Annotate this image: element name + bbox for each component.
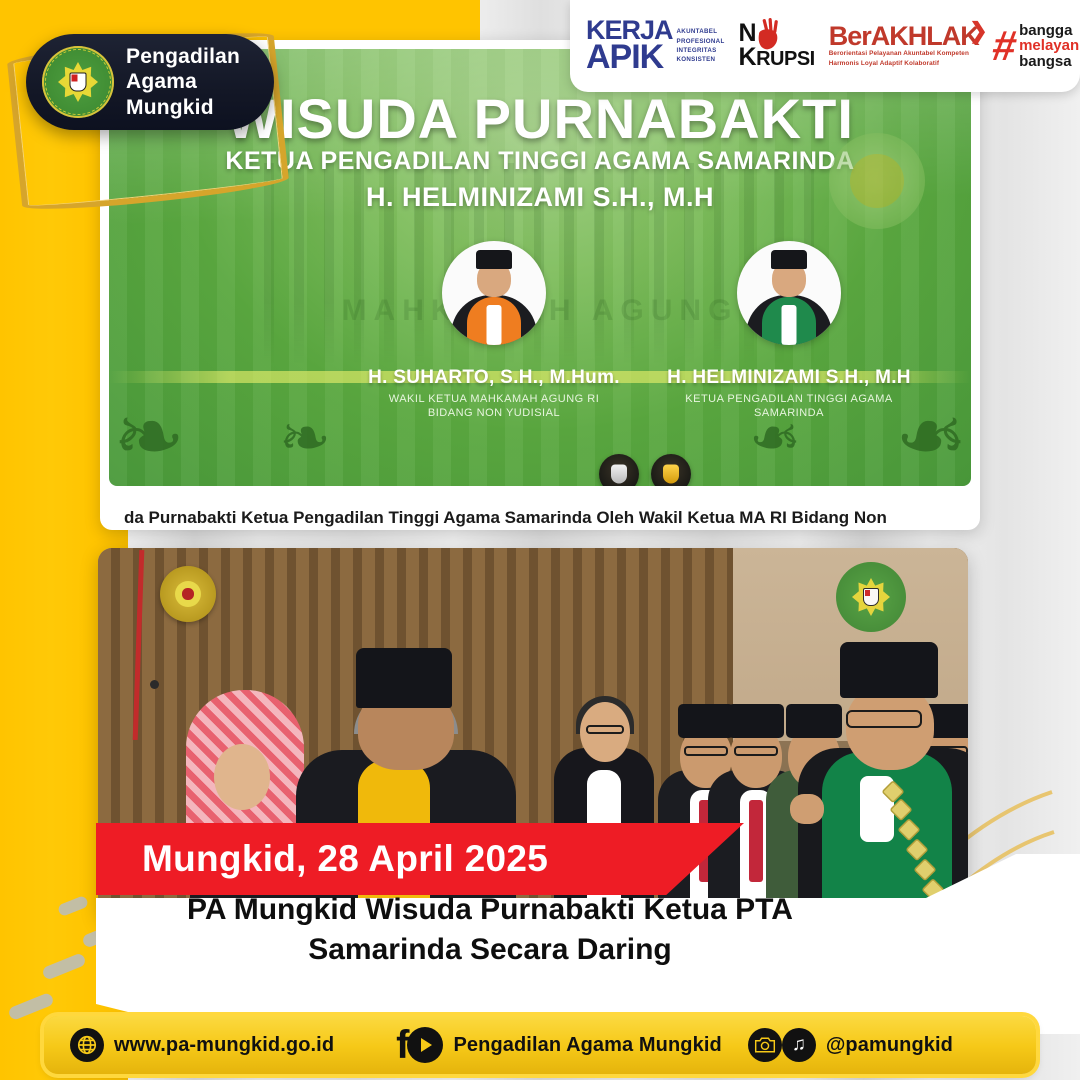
- no-korupsi-logo: NO KRUPSI: [739, 22, 815, 70]
- bangga-line2: melayani: [1019, 38, 1080, 53]
- headline-text: PA Mungkid Wisuda Purnabakti Ketua PTA S…: [110, 890, 870, 969]
- headline-line2: Samarinda Secara Daring: [110, 930, 870, 970]
- photo-person-main-judge: [798, 620, 968, 920]
- photo-wall-emblem-icon: [160, 566, 216, 622]
- berakhlak-tick-icon: ❯: [969, 18, 987, 44]
- poster-canvas: MAHKAMAH AGUNG WISUDA PURNABAKTI KETUA P…: [0, 0, 1080, 1080]
- brand-badge-text: Pengadilan Agama Mungkid: [126, 44, 258, 121]
- instagram-icon[interactable]: [748, 1028, 782, 1062]
- banner-person-title: WAKIL KETUA MAHKAMAH AGUNG RI BIDANG NON…: [334, 393, 654, 421]
- badge-medal-gold-icon: [651, 454, 691, 486]
- badge-medal-silver-icon: [599, 454, 639, 486]
- banner-portrait-helminizami: [737, 241, 841, 345]
- decor-ornament-icon: ❧: [113, 394, 185, 480]
- kerja-apik-values: AKUNTABELPROFESIONALINTEGRITASKONSISTEN: [677, 27, 725, 64]
- footer-website[interactable]: www.pa-mungkid.go.id: [114, 1034, 334, 1057]
- red-hand-icon: [752, 18, 782, 52]
- banner-person-title-line1: WAKIL KETUA MAHKAMAH AGUNG RI: [334, 393, 654, 407]
- court-seal-icon: [42, 46, 114, 118]
- footer-handle[interactable]: @pamungkid: [826, 1034, 953, 1057]
- banner-portrait-suharto: [442, 241, 546, 345]
- footer-social-name[interactable]: Pengadilan Agama Mungkid: [453, 1034, 721, 1057]
- brand-badge-line2: Mungkid: [126, 95, 258, 121]
- hashtag-icon: #: [990, 29, 1019, 63]
- berakhlak-sub1: Berorientasi Pelayanan Akuntabel Kompete…: [829, 49, 979, 59]
- banner-caption-clipped: da Purnabakti Ketua Pengadilan Tinggi Ag…: [124, 508, 970, 528]
- decor-ornament-icon: ❧: [749, 408, 801, 470]
- photo-mic-head: [150, 680, 159, 689]
- photo-court-seal-icon: [836, 562, 906, 632]
- berakhlak-sub2: Harmonis Loyal Adaptif Kolaboratif: [829, 59, 979, 69]
- brand-badge-line1: Pengadilan Agama: [126, 44, 258, 95]
- date-ribbon: Mungkid, 28 April 2025: [96, 823, 744, 895]
- berakhlak-logo: BerAKHLAK Berorientasi Pelayanan Akuntab…: [829, 24, 979, 69]
- program-logo-bar: KERJA APIK AKUNTABELPROFESIONALINTEGRITA…: [570, 0, 1080, 92]
- youtube-icon[interactable]: [407, 1027, 443, 1063]
- banner-person-name: H. SUHARTO, S.H., M.Hum.: [334, 367, 654, 389]
- kerja-apik-logo: KERJA APIK AKUNTABELPROFESIONALINTEGRITA…: [586, 19, 725, 73]
- banner-person-name: H. HELMINIZAMI S.H., M.H: [629, 367, 949, 389]
- headline-line1: PA Mungkid Wisuda Purnabakti Ketua PTA: [110, 890, 870, 930]
- berakhlak-title: BerAKHLAK: [829, 24, 979, 50]
- date-ribbon-text: Mungkid, 28 April 2025: [96, 838, 548, 880]
- decor-ornament-icon: ❧: [895, 394, 967, 480]
- bangga-line1: bangga: [1019, 23, 1080, 38]
- kerja-apik-line2: APIK: [586, 43, 673, 73]
- decor-ornament-icon: ❧: [279, 408, 331, 470]
- brand-badge: Pengadilan Agama Mungkid: [26, 34, 274, 130]
- tiktok-icon[interactable]: ♫: [782, 1028, 816, 1062]
- banner-seal-watermark-icon: [829, 133, 925, 229]
- bangga-line3: bangsa: [1019, 54, 1080, 69]
- globe-icon[interactable]: [70, 1028, 104, 1062]
- footer-bar: www.pa-mungkid.go.id f Pengadilan Agama …: [44, 1016, 1036, 1074]
- bangga-melayani-bangsa-logo: # bangga melayani bangsa: [993, 23, 1080, 69]
- banner-person-title-line2: BIDANG NON YUDISIAL: [334, 407, 654, 421]
